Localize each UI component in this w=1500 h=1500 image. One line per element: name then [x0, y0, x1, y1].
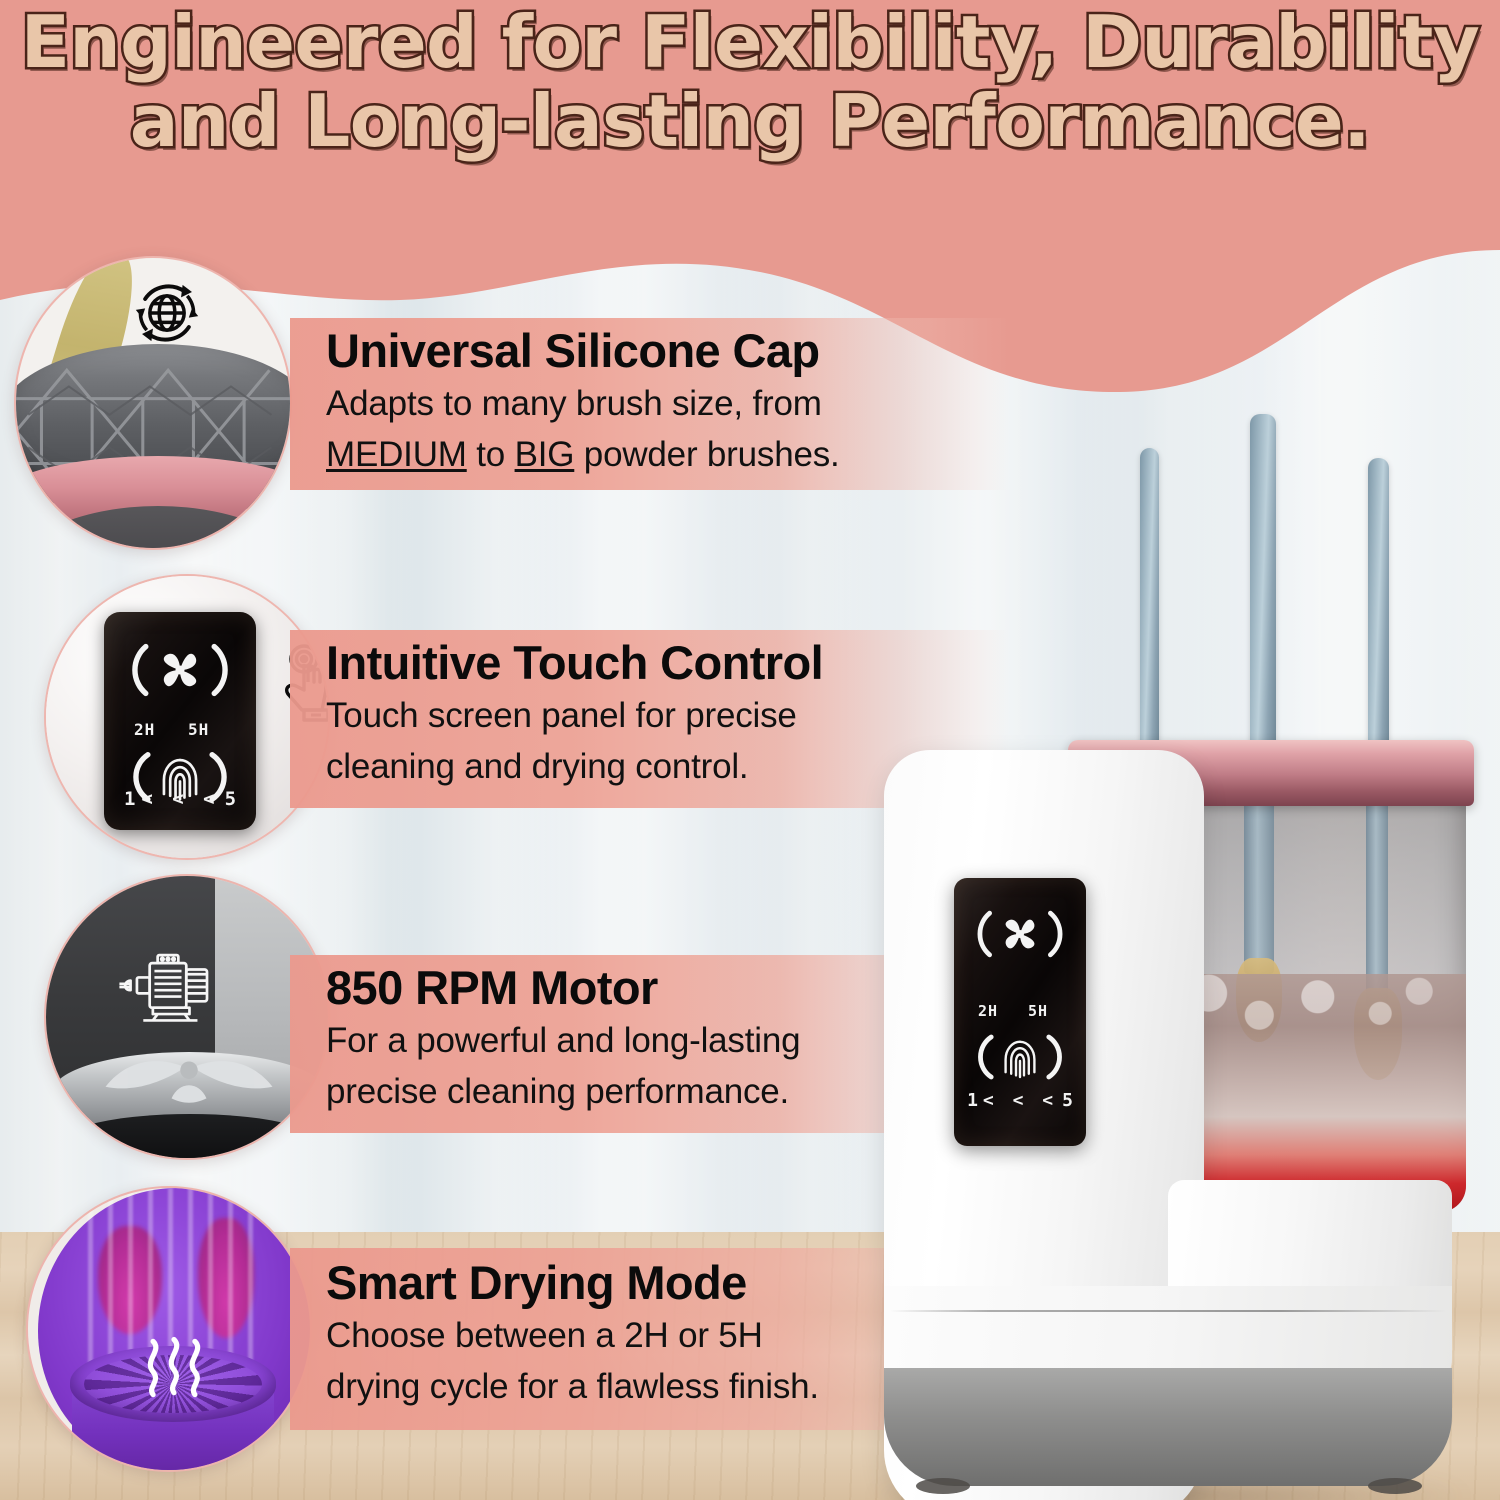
product-base-gray-band — [884, 1368, 1452, 1486]
infographic-canvas: Engineered for Flexibility, Durability a… — [0, 0, 1500, 1500]
emphasis-big: BIG — [515, 435, 575, 474]
speed-indicator[interactable]: 1 < < < 5 — [964, 1090, 1076, 1111]
product-foot-left — [916, 1478, 970, 1494]
fan-blade-icon[interactable] — [972, 900, 1068, 968]
feature-image-motor — [44, 874, 330, 1160]
timer-2h-label[interactable]: 2H — [134, 720, 155, 739]
product-hero-image: 2H 5H 1 < < < — [868, 410, 1500, 1460]
feature-image-touch-control: 2H 5H 1 < < < — [44, 574, 330, 860]
speed-max-label: 5 — [1062, 1090, 1073, 1111]
product-foot-right — [1368, 1478, 1422, 1494]
heat-waves-icon — [136, 1330, 212, 1406]
header-line-2: and Long-lasting Performance. — [0, 85, 1500, 158]
feature-image-silicone-cap — [14, 256, 292, 550]
speed-min-label: 1 — [967, 1090, 978, 1111]
impeller-blades — [82, 1044, 296, 1110]
speed-min-label: 1 — [124, 788, 135, 810]
feature-title: Universal Silicone Cap — [326, 326, 1010, 376]
product-touch-panel[interactable]: 2H 5H 1 < < < — [954, 878, 1086, 1146]
emphasis-medium: MEDIUM — [326, 435, 467, 474]
header-line-1: Engineered for Flexibility, Durability — [21, 0, 1480, 84]
touch-panel-closeup: 2H 5H 1 < < < — [104, 612, 256, 830]
product-body-seam — [890, 1310, 1446, 1312]
desc-tail: powder brushes. — [574, 435, 839, 474]
speed-chevrons: < < < — [983, 1090, 1057, 1111]
timer-5h-label[interactable]: 5H — [188, 720, 209, 739]
globe-rotation-icon — [128, 274, 206, 352]
electric-motor-icon — [108, 944, 220, 1030]
fan-blade-icon — [126, 632, 234, 708]
feature-image-drying-mode — [26, 1186, 312, 1472]
speed-chevrons: < < < — [141, 788, 218, 810]
fingerprint-icon[interactable] — [972, 1026, 1068, 1088]
speed-max-label: 5 — [225, 788, 236, 810]
speed-indicator[interactable]: 1 < < < 5 — [118, 788, 242, 810]
page-title: Engineered for Flexibility, Durability a… — [0, 6, 1500, 159]
timer-2h-label[interactable]: 2H — [978, 1002, 998, 1020]
timer-5h-label[interactable]: 5H — [1028, 1002, 1048, 1020]
desc-connector: to — [467, 435, 515, 474]
